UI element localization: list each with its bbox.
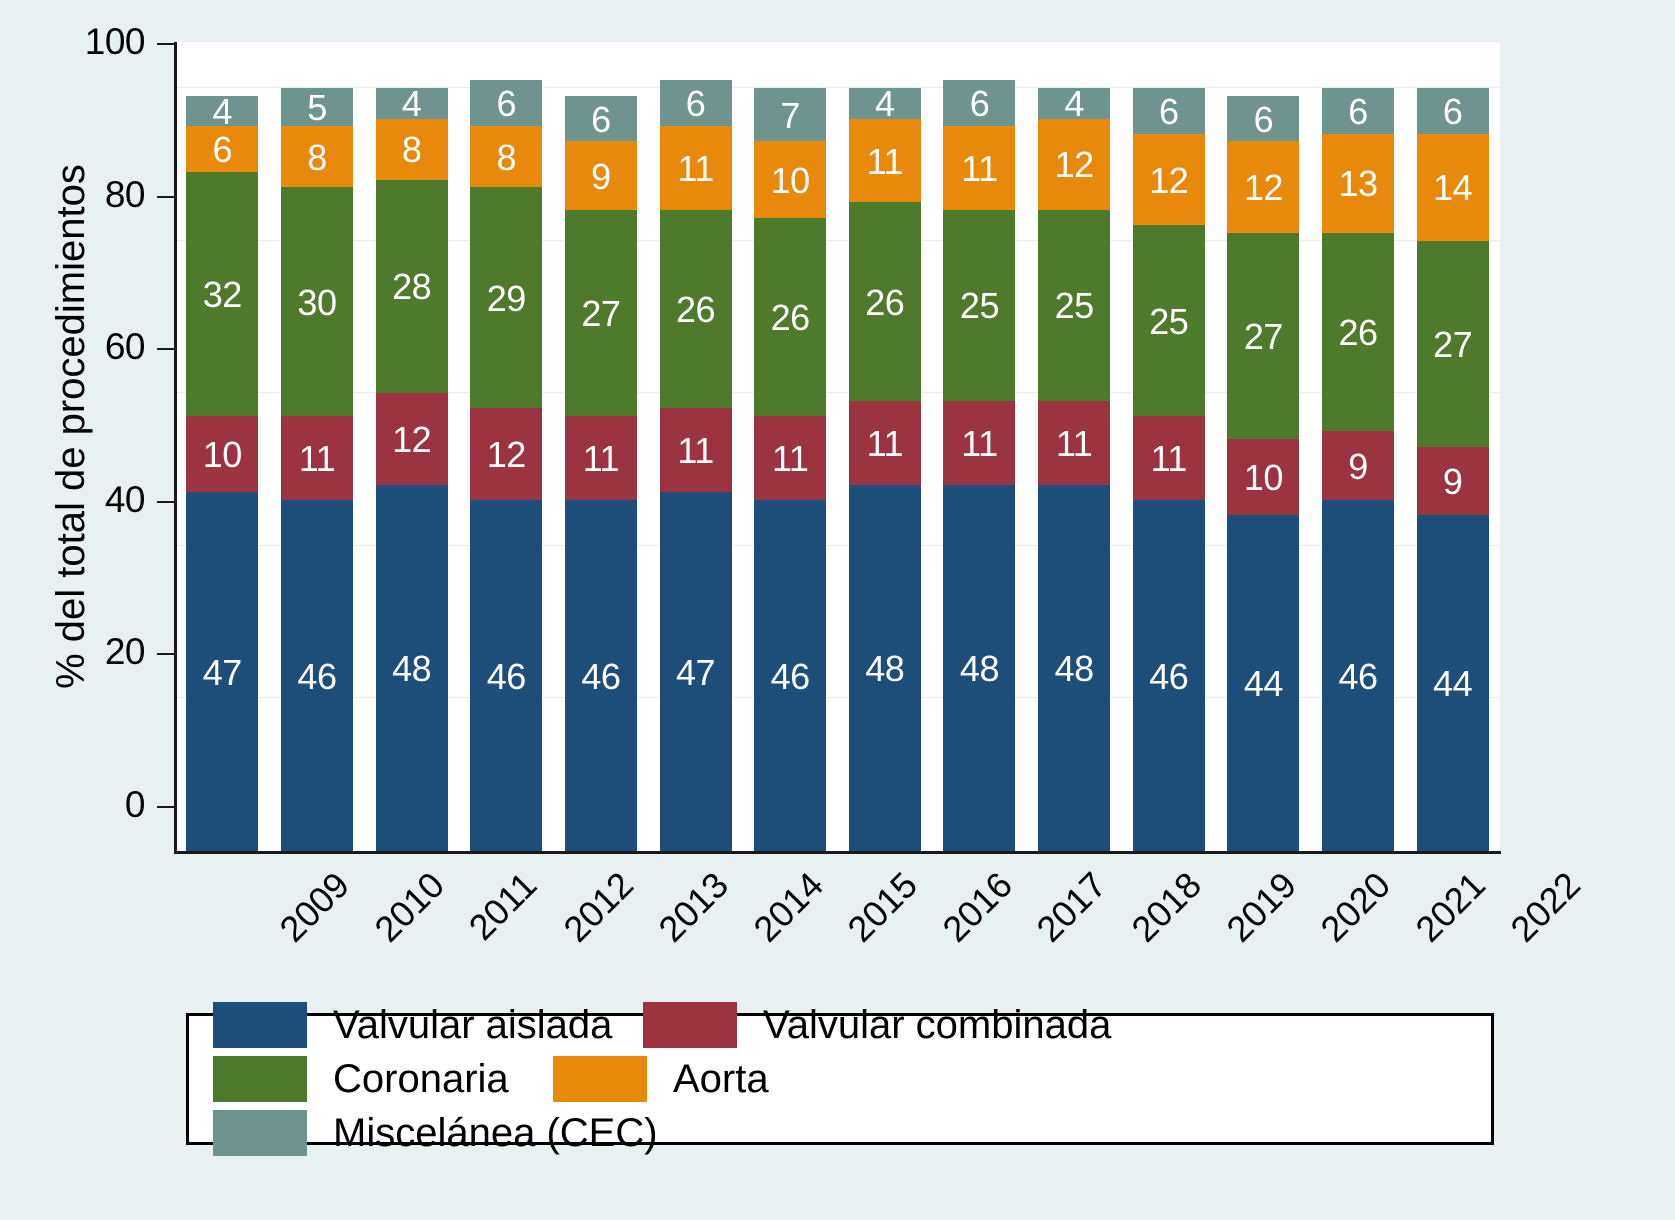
gridline (175, 392, 1500, 393)
bar-segment[interactable]: 6 (660, 80, 732, 126)
legend-color-swatch (643, 1002, 737, 1048)
bar-segment-value-label: 11 (867, 426, 903, 462)
bar-segment-value-label: 48 (392, 651, 431, 687)
bar-segment[interactable]: 11 (1038, 401, 1110, 485)
bar-segment-value-label: 28 (392, 269, 431, 305)
bar-segment-value-label: 26 (1339, 315, 1378, 351)
bar-group[interactable]: 461126107 (754, 88, 826, 851)
bar-segment[interactable]: 10 (754, 141, 826, 217)
y-axis-title: % del total de procedimientos (46, 0, 96, 852)
bar-segment-value-label: 12 (1055, 147, 1094, 183)
bar-segment-value-label: 32 (203, 277, 242, 313)
y-axis-tick-label: 0 (125, 784, 145, 826)
bar-segment-value-label: 26 (865, 285, 904, 321)
bar-segment-value-label: 6 (970, 86, 990, 122)
bar-segment-value-label: 6 (1254, 102, 1274, 138)
x-axis-tick-label: 2013 (650, 864, 736, 950)
x-axis-tick-label: 2015 (840, 864, 926, 950)
bar-segment-value-label: 8 (496, 140, 516, 176)
bar-segment-value-label: 6 (686, 86, 706, 122)
bar-segment[interactable]: 46 (565, 500, 637, 851)
bar-group[interactable]: 481125116 (943, 80, 1015, 851)
bar-segment[interactable]: 14 (1417, 134, 1489, 241)
x-axis-tick-label: 2018 (1124, 864, 1210, 950)
bar-segment[interactable]: 46 (754, 500, 826, 851)
bar-segment[interactable]: 27 (1227, 233, 1299, 439)
bar-segment-value-label: 6 (1443, 94, 1463, 130)
bar-segment[interactable]: 25 (943, 210, 1015, 401)
bar-segment[interactable]: 47 (186, 492, 258, 851)
legend-item-label: Aorta (673, 1057, 769, 1102)
bar-segment[interactable]: 44 (1227, 515, 1299, 851)
bar-segment[interactable]: 9 (1322, 431, 1394, 500)
bar-segment-value-label: 29 (487, 281, 526, 317)
bar-group[interactable]: 471126116 (660, 80, 732, 851)
bar-segment[interactable]: 25 (1133, 225, 1205, 416)
x-axis-tick-label: 2019 (1218, 864, 1304, 950)
y-axis-tick: 0 (157, 806, 174, 808)
legend-item[interactable]: Valvular combinada (643, 1000, 1153, 1050)
bar-segment-value-label: 10 (1244, 460, 1283, 496)
y-axis-tick: 40 (157, 501, 174, 503)
x-axis-tick-label: 2020 (1313, 864, 1399, 950)
bar-segment[interactable]: 9 (1417, 447, 1489, 516)
bar-segment-value-label: 11 (677, 151, 713, 187)
bar-segment-value-label: 48 (865, 651, 904, 687)
bar-segment[interactable]: 13 (1322, 134, 1394, 233)
bar-segment-value-label: 8 (402, 132, 422, 168)
bar-segment[interactable]: 6 (470, 80, 542, 126)
bar-segment[interactable]: 6 (186, 126, 258, 172)
bar-group[interactable]: 46113085 (281, 88, 353, 851)
bar-segment-value-label: 11 (867, 144, 903, 180)
bar-segment[interactable]: 6 (1227, 96, 1299, 142)
legend-item-label: Valvular combinada (763, 1003, 1111, 1048)
bar-segment-value-label: 14 (1433, 170, 1472, 206)
bar-segment[interactable]: 11 (660, 408, 732, 492)
bar-segment[interactable]: 7 (754, 88, 826, 141)
gridline (175, 240, 1500, 241)
bar-segment[interactable]: 32 (186, 172, 258, 416)
bar-segment-value-label: 25 (960, 288, 999, 324)
bar-segment[interactable]: 11 (943, 401, 1015, 485)
bar-segment-value-label: 46 (487, 659, 526, 695)
bar-segment[interactable]: 46 (1133, 500, 1205, 851)
bar-segment[interactable]: 27 (565, 210, 637, 416)
legend-color-swatch (213, 1110, 307, 1156)
bar-segment-value-label: 6 (1159, 94, 1179, 130)
bar-segment[interactable]: 12 (470, 408, 542, 500)
bar-segment-value-label: 6 (591, 102, 611, 138)
y-axis-tick: 60 (157, 348, 174, 350)
legend-item[interactable]: Miscelánea (CEC) (213, 1108, 723, 1158)
bar-segment-value-label: 25 (1055, 288, 1094, 324)
bar-segment[interactable]: 11 (565, 416, 637, 500)
bar-segment[interactable]: 4 (186, 96, 258, 127)
bar-segment[interactable]: 11 (849, 119, 921, 203)
bar-segment[interactable]: 10 (186, 416, 258, 492)
bar-segment[interactable]: 28 (376, 180, 448, 394)
bar-segment-value-label: 9 (591, 159, 611, 195)
bar-segment-value-label: 46 (1149, 659, 1188, 695)
bar-segment-value-label: 44 (1244, 666, 1283, 702)
y-axis-title-text: % del total de procedimientos (49, 164, 94, 689)
bar-segment[interactable]: 48 (849, 485, 921, 851)
bar-segment[interactable]: 26 (660, 210, 732, 408)
legend-item-label: Valvular aislada (333, 1003, 612, 1048)
legend-item[interactable]: Valvular aislada (213, 1000, 643, 1050)
bar-segment[interactable]: 29 (470, 187, 542, 408)
bar-segment-value-label: 6 (1348, 94, 1368, 130)
bar-segment-value-label: 11 (583, 441, 619, 477)
bar-segment-value-label: 46 (297, 659, 336, 695)
legend-color-swatch (553, 1056, 647, 1102)
bar-segment[interactable]: 46 (1322, 500, 1394, 851)
bar-segment-value-label: 26 (676, 292, 715, 328)
bar-segment[interactable]: 8 (470, 126, 542, 187)
bar-segment[interactable]: 4 (849, 88, 921, 119)
bar-segment[interactable]: 8 (376, 119, 448, 180)
bar-segment[interactable]: 11 (943, 126, 1015, 210)
chart-legend: Valvular aisladaValvular combinadaCorona… (186, 1013, 1494, 1145)
bar-group[interactable]: 44927146 (1417, 88, 1489, 851)
bar-segment-value-label: 4 (875, 86, 895, 122)
bar-group[interactable]: 481126114 (849, 88, 921, 851)
bar-segment-value-label: 30 (297, 285, 336, 321)
bar-segment-value-label: 12 (1149, 163, 1188, 199)
y-axis-tick: 80 (157, 196, 174, 198)
figure-canvas: 4710326446113085481228844612298646112796… (0, 0, 1675, 1220)
bar-segment[interactable]: 12 (1227, 141, 1299, 233)
bar-group[interactable]: 441027126 (1227, 96, 1299, 851)
y-axis-line: 020406080100 (174, 42, 177, 852)
bar-segment[interactable]: 27 (1417, 241, 1489, 447)
bar-segment-value-label: 47 (203, 655, 242, 691)
bar-segment-value-label: 13 (1339, 166, 1378, 202)
bar-segment[interactable]: 4 (376, 88, 448, 119)
bar-segment[interactable]: 5 (281, 88, 353, 126)
bar-segment-value-label: 47 (676, 655, 715, 691)
bar-segment[interactable]: 46 (281, 500, 353, 851)
bar-segment-value-label: 6 (213, 132, 233, 168)
bar-segment[interactable]: 6 (1322, 88, 1394, 134)
bar-segment[interactable]: 11 (281, 416, 353, 500)
bar-segment[interactable]: 26 (849, 202, 921, 400)
bars-and-gridlines: 4710326446113085481228844612298646112796… (175, 88, 1500, 851)
bar-group[interactable]: 47103264 (186, 96, 258, 851)
y-axis-tick-label: 40 (105, 479, 145, 521)
bar-segment-value-label: 4 (402, 86, 422, 122)
x-axis-tick-label: 2012 (556, 864, 642, 950)
bar-segment[interactable]: 11 (754, 416, 826, 500)
bar-segment-value-label: 4 (1064, 86, 1084, 122)
bar-segment[interactable]: 48 (943, 485, 1015, 851)
bar-group[interactable]: 46112796 (565, 96, 637, 851)
bar-segment-value-label: 48 (960, 651, 999, 687)
x-axis-tick-label: 2017 (1029, 864, 1115, 950)
bar-segment-value-label: 27 (581, 296, 620, 332)
bar-segment-value-label: 10 (203, 437, 242, 473)
bar-segment-value-label: 9 (1348, 449, 1368, 485)
bar-segment-value-label: 27 (1244, 319, 1283, 355)
bar-segment-value-label: 11 (1056, 426, 1092, 462)
bar-segment[interactable]: 6 (1417, 88, 1489, 134)
bar-segment-value-label: 12 (1244, 170, 1283, 206)
bar-segment[interactable]: 4 (1038, 88, 1110, 119)
bar-group[interactable]: 481125124 (1038, 88, 1110, 851)
bar-segment[interactable]: 11 (660, 126, 732, 210)
legend-color-swatch (213, 1056, 307, 1102)
bar-segment-value-label: 25 (1149, 304, 1188, 340)
bar-segment-value-label: 10 (771, 163, 810, 199)
bar-segment-value-label: 44 (1433, 666, 1472, 702)
legend-item[interactable]: Coronaria (213, 1054, 553, 1104)
bar-segment-value-label: 11 (299, 441, 335, 477)
bar-segment[interactable]: 25 (1038, 210, 1110, 401)
bar-segment-value-label: 5 (307, 90, 327, 126)
bar-group[interactable]: 46926136 (1322, 88, 1394, 851)
bar-segment[interactable]: 48 (1038, 485, 1110, 851)
gridline (175, 545, 1500, 546)
bar-segment[interactable]: 12 (376, 393, 448, 485)
bar-group[interactable]: 48122884 (376, 88, 448, 851)
x-axis-line (174, 851, 1501, 854)
y-axis-tick-label: 20 (105, 631, 145, 673)
bar-segment[interactable]: 44 (1417, 515, 1489, 851)
bar-segment-value-label: 4 (213, 94, 233, 130)
y-axis-tick: 100 (157, 43, 174, 45)
bar-segment-value-label: 12 (487, 437, 526, 473)
bar-segment-value-label: 8 (307, 140, 327, 176)
bar-segment[interactable]: 26 (1322, 233, 1394, 431)
bar-segment-value-label: 6 (496, 86, 516, 122)
bar-segment-value-label: 48 (1055, 651, 1094, 687)
x-axis-tick-label: 2016 (934, 864, 1020, 950)
bar-segment-value-label: 12 (392, 422, 431, 458)
bar-segment-value-label: 26 (771, 300, 810, 336)
bar-segment[interactable]: 26 (754, 218, 826, 416)
bar-segment[interactable]: 47 (660, 492, 732, 851)
legend-item-label: Coronaria (333, 1057, 509, 1102)
bar-segment[interactable]: 12 (1038, 119, 1110, 211)
bar-segment[interactable]: 46 (470, 500, 542, 851)
y-axis-tick-label: 60 (105, 326, 145, 368)
bar-segment[interactable]: 30 (281, 187, 353, 416)
gridline (175, 87, 1500, 88)
x-axis-tick-label: 2021 (1407, 864, 1493, 950)
x-axis-tick-label: 2010 (366, 864, 452, 950)
bar-segment-value-label: 11 (677, 433, 713, 469)
bar-segment[interactable]: 11 (1133, 416, 1205, 500)
bar-segment[interactable]: 9 (565, 141, 637, 210)
bar-group[interactable]: 461125126 (1133, 88, 1205, 851)
bar-segment-value-label: 46 (771, 659, 810, 695)
bar-segment[interactable]: 8 (281, 126, 353, 187)
legend-item[interactable]: Aorta (553, 1054, 983, 1104)
x-axis-tick-label: 2009 (272, 864, 358, 950)
bar-segment-value-label: 46 (581, 659, 620, 695)
bar-segment-value-label: 27 (1433, 327, 1472, 363)
bar-group[interactable]: 46122986 (470, 80, 542, 851)
x-axis-tick-label: 2014 (745, 864, 831, 950)
bar-segment-value-label: 46 (1339, 659, 1378, 695)
y-axis-tick-label: 80 (105, 174, 145, 216)
bar-segment-value-label: 11 (1151, 441, 1187, 477)
bar-segment[interactable]: 11 (849, 401, 921, 485)
legend-color-swatch (213, 1002, 307, 1048)
bar-segment[interactable]: 48 (376, 485, 448, 851)
x-axis-tick-label: 2022 (1502, 864, 1588, 950)
bar-segment-value-label: 11 (772, 441, 808, 477)
x-axis-tick-label: 2011 (460, 864, 544, 948)
bar-segment[interactable]: 6 (943, 80, 1015, 126)
bar-segment-value-label: 11 (961, 426, 997, 462)
bar-segment[interactable]: 6 (565, 96, 637, 142)
bar-segment-value-label: 11 (961, 151, 997, 187)
y-axis-tick: 20 (157, 653, 174, 655)
bar-segment[interactable]: 6 (1133, 88, 1205, 134)
gridline (175, 697, 1500, 698)
bar-segment[interactable]: 10 (1227, 439, 1299, 515)
bar-segment-value-label: 7 (780, 98, 800, 134)
bar-segment-value-label: 9 (1443, 464, 1463, 500)
legend-item-label: Miscelánea (CEC) (333, 1111, 658, 1156)
bar-segment[interactable]: 12 (1133, 134, 1205, 226)
